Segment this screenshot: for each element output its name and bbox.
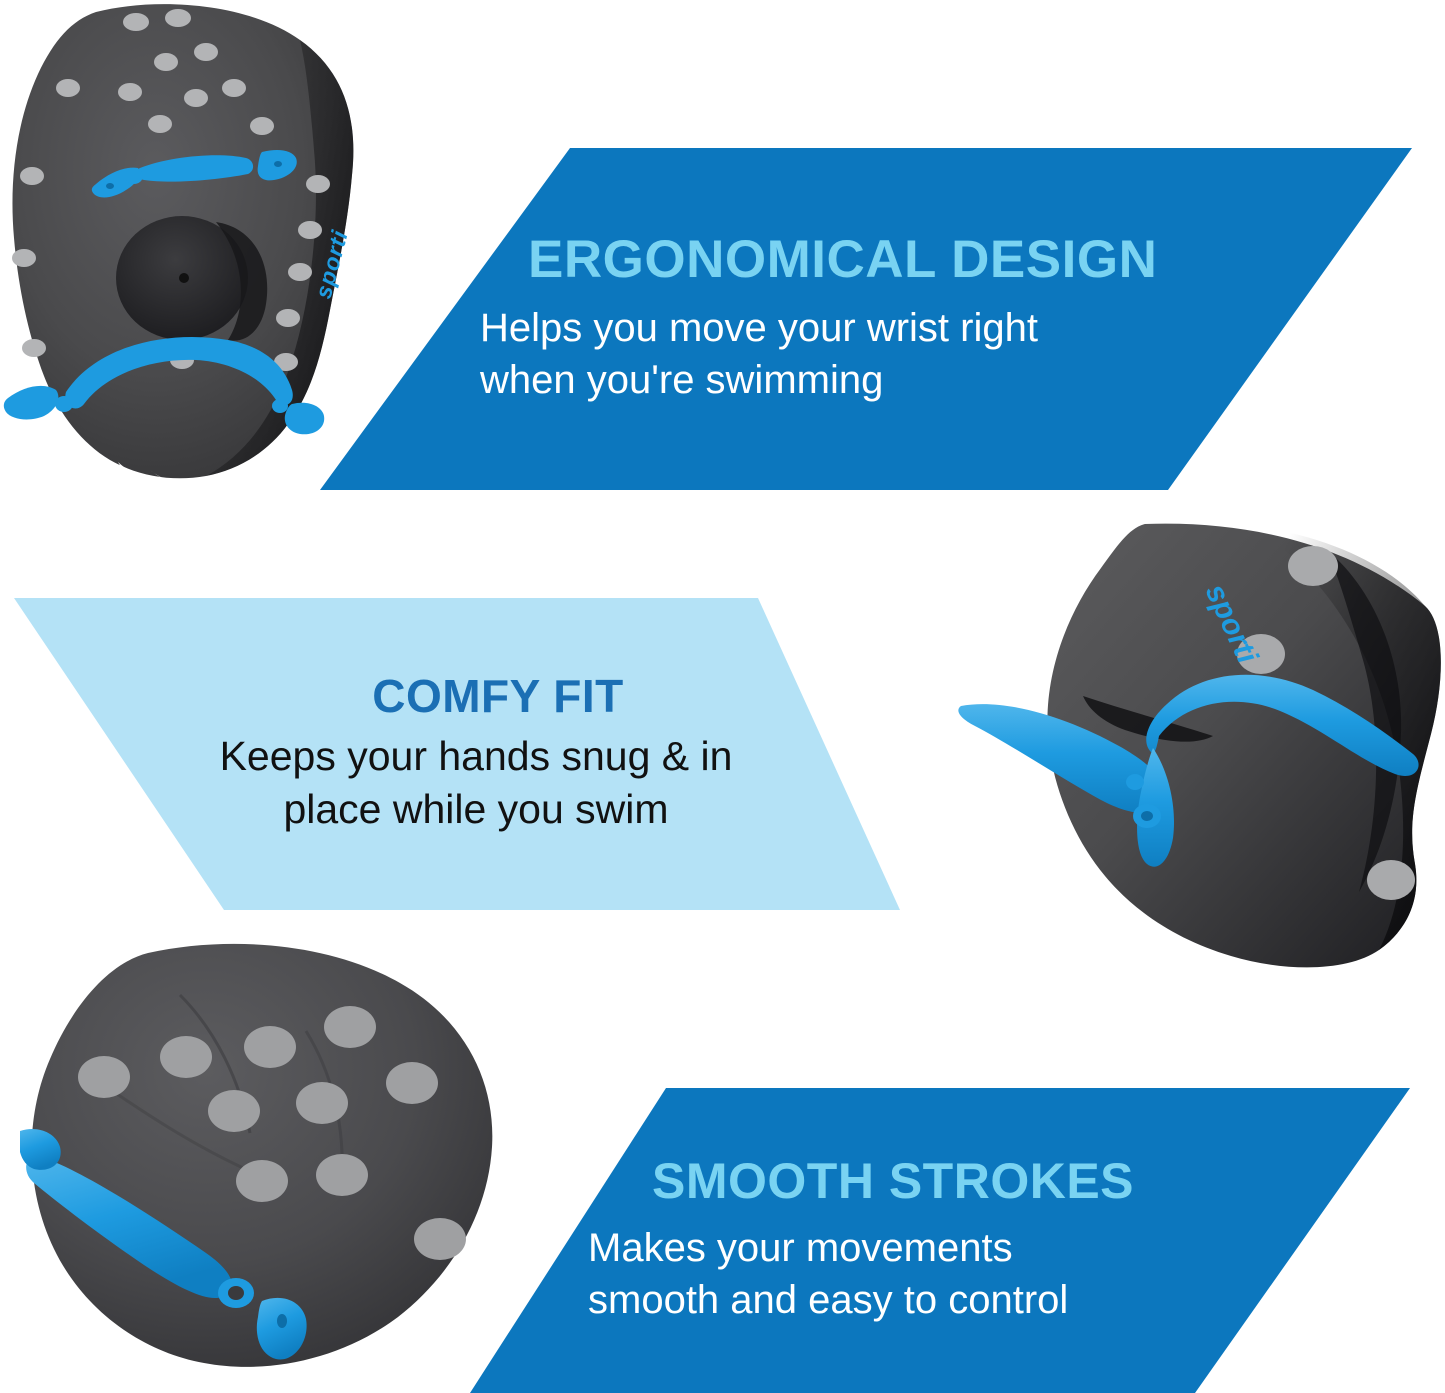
feature-body-line-1: Helps you move your wrist right	[480, 302, 1290, 354]
product-photo-strap-closeup: sporti	[955, 520, 1445, 1020]
feature-body-line-2: smooth and easy to control	[588, 1274, 1348, 1326]
feature-body-ergonomical-design: Helps you move your wrist right when you…	[320, 302, 1290, 406]
feature-body-smooth-strokes: Makes your movements smooth and easy to …	[470, 1222, 1348, 1326]
infographic-canvas: sporti	[0, 0, 1445, 1393]
feature-body-line-2: when you're swimming	[480, 354, 1290, 406]
feature-banner-comfy-fit: COMFY FIT Keeps your hands snug & in pla…	[0, 598, 900, 910]
feature-body-line-1: Keeps your hands snug & in	[96, 730, 856, 783]
feature-title-comfy-fit: COMFY FIT	[0, 672, 900, 720]
product-photo-surface-closeup	[20, 935, 520, 1375]
feature-title-ergonomical-design: ERGONOMICAL DESIGN	[320, 232, 1412, 288]
feature-body-line-2: place while you swim	[96, 783, 856, 836]
feature-body-line-1: Makes your movements	[588, 1222, 1348, 1274]
feature-title-smooth-strokes: SMOOTH STROKES	[470, 1155, 1410, 1208]
feature-body-comfy-fit: Keeps your hands snug & in place while y…	[0, 730, 856, 837]
feature-banner-smooth-strokes: SMOOTH STROKES Makes your movements smoo…	[470, 1088, 1410, 1393]
product-photo-paddle-full: sporti	[0, 0, 400, 490]
feature-banner-ergonomical-design: ERGONOMICAL DESIGN Helps you move your w…	[320, 148, 1412, 490]
